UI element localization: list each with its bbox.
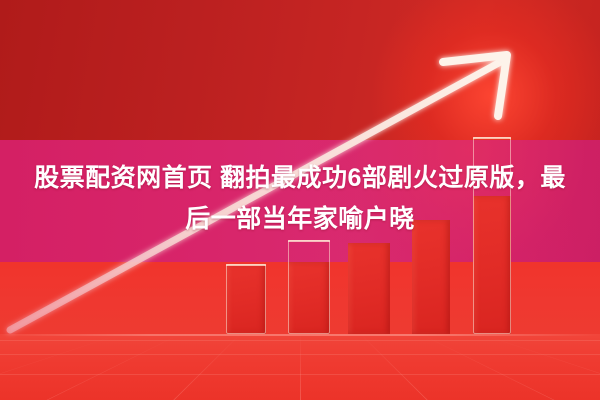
bar-2 <box>288 240 330 334</box>
perspective-floor <box>0 334 600 400</box>
background-band-top <box>0 0 600 142</box>
bar-3-fill <box>348 243 390 334</box>
floor-grid-line-vertical <box>480 334 600 400</box>
bar-1 <box>226 264 266 334</box>
floor-grid-line-horizontal <box>0 354 600 355</box>
floor-horizon-line <box>0 334 600 336</box>
bar-1-outline <box>226 264 266 334</box>
floor-grid-line-horizontal <box>0 340 600 341</box>
bar-3 <box>348 243 390 334</box>
floor-grid-line-vertical <box>173 334 241 400</box>
bar-2-cap <box>288 240 330 242</box>
floor-grid-line-vertical <box>0 334 121 400</box>
floor-grid-line-vertical <box>360 334 428 400</box>
page-title: 股票配资网首页 翻拍最成功6部剧火过原版，最后一部当年家喻户晓 <box>22 158 578 240</box>
floor-grid-line-vertical <box>420 334 554 400</box>
bar-2-outline <box>288 240 330 334</box>
bar-1-cap <box>226 264 266 266</box>
bar-5-cap <box>473 137 511 139</box>
floor-grid-line-vertical <box>47 334 181 400</box>
floor-grid-line-vertical <box>300 334 301 400</box>
banner-image: 股票配资网首页 翻拍最成功6部剧火过原版，最后一部当年家喻户晓 <box>0 0 600 400</box>
floor-grid-line-horizontal <box>0 374 600 375</box>
